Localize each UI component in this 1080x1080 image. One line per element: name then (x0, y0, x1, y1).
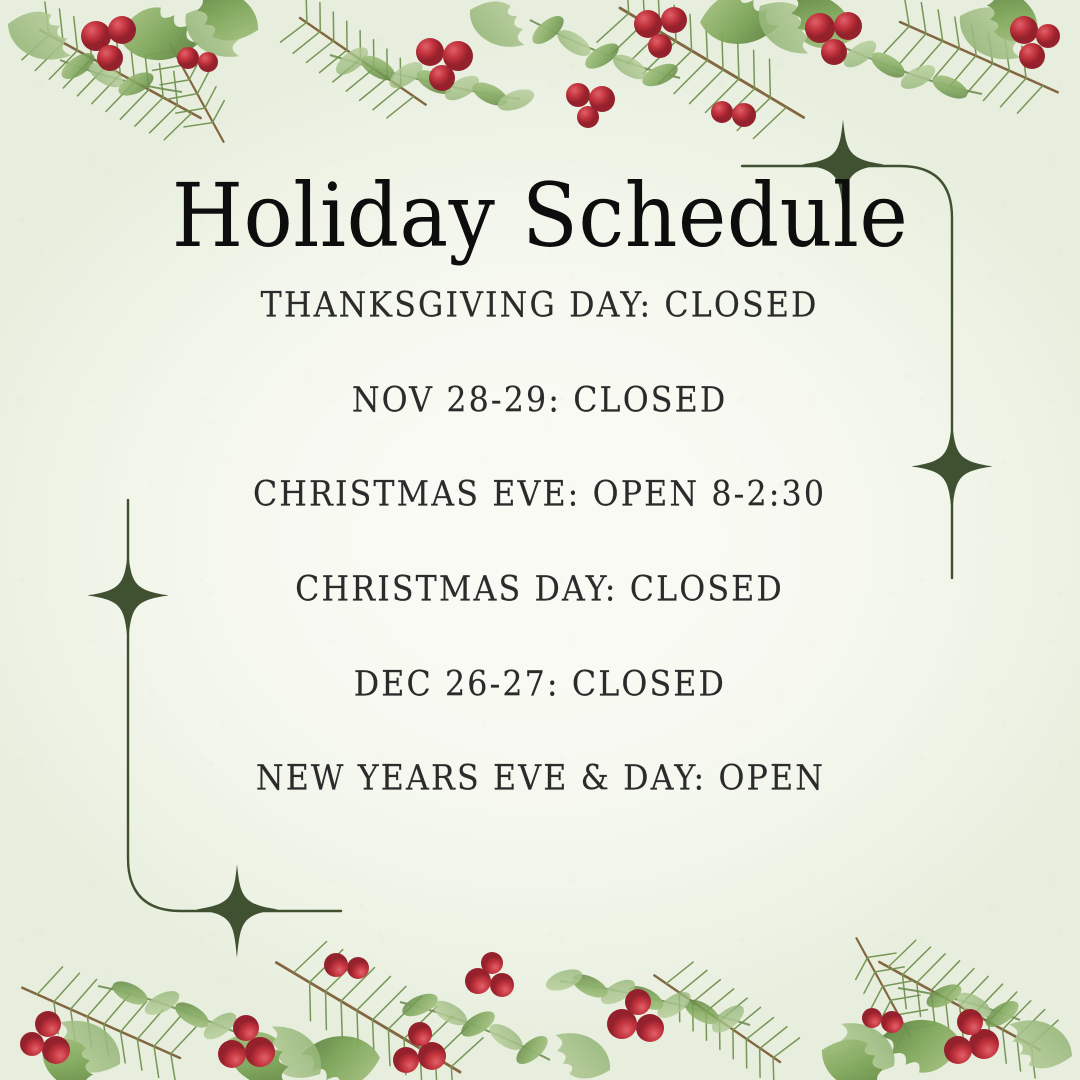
schedule-line-thanksgiving: THANKSGIVING DAY: CLOSED (261, 287, 819, 323)
poster-content: Holiday Schedule THANKSGIVING DAY: CLOSE… (0, 0, 1080, 1080)
schedule-line-christmas-day: CHRISTMAS DAY: CLOSED (296, 571, 785, 607)
schedule-line-new-years: NEW YEARS EVE & DAY: OPEN (255, 761, 824, 797)
schedule-line-dec-26-27: DEC 26-27: CLOSED (354, 666, 726, 702)
schedule-line-christmas-eve: CHRISTMAS EVE: OPEN 8-2:30 (253, 477, 826, 513)
schedule-line-nov-28-29: NOV 28-29: CLOSED (352, 382, 728, 418)
schedule-list: THANKSGIVING DAY: CLOSED NOV 28-29: CLOS… (0, 288, 1080, 796)
holiday-schedule-poster: Holiday Schedule THANKSGIVING DAY: CLOSE… (0, 0, 1080, 1080)
page-title: Holiday Schedule (172, 172, 909, 260)
